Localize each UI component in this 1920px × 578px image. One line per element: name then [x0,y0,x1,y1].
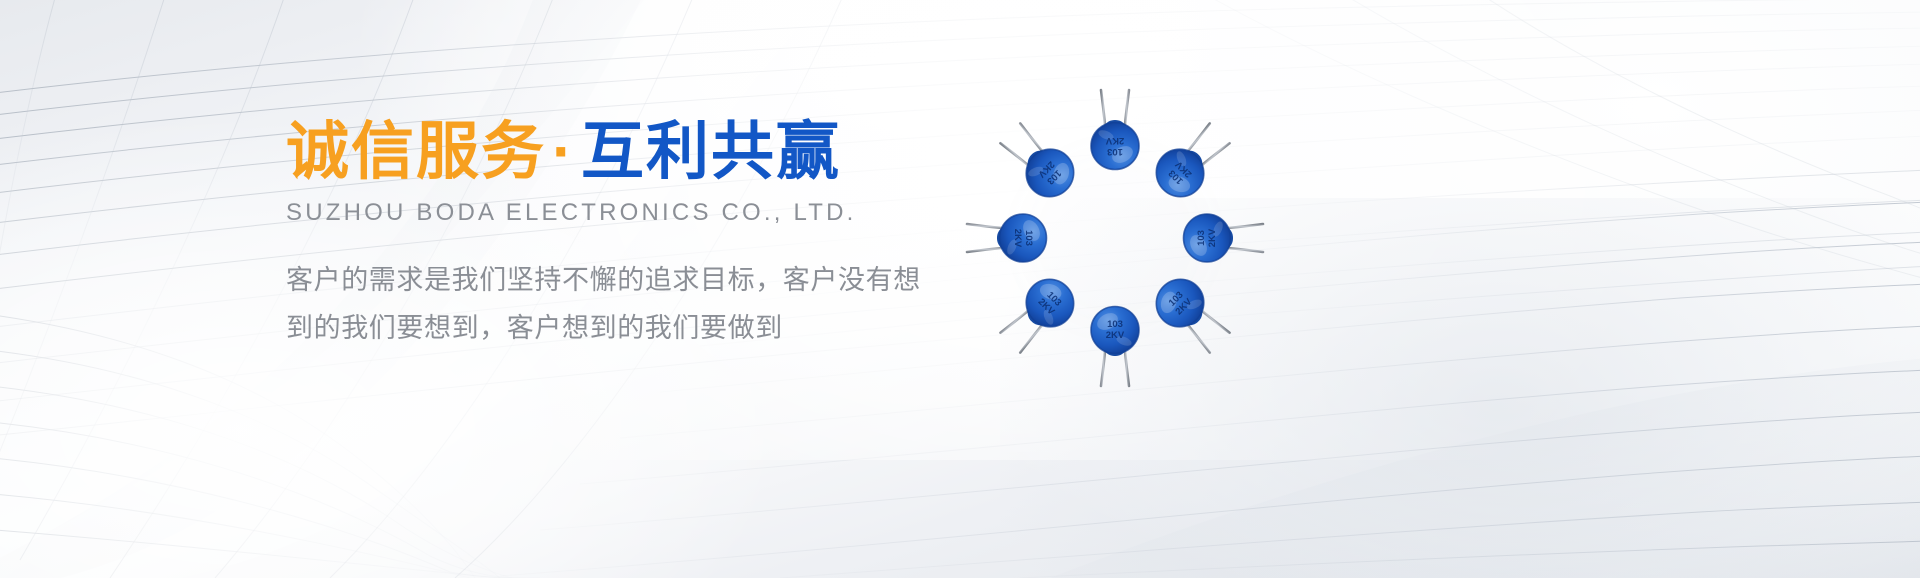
description-line-2: 到的我们要想到，客户想到的我们要做到 [286,304,926,352]
headline-separator-dot: · [546,117,581,187]
capacitor-marking: 1032KV [1196,228,1218,247]
product-image-capacitor-cluster: 1032KV1032KV1032KV1032KV1032KV1032KV1032… [950,52,1280,412]
banner-text-block: 诚信服务·互利共赢 SUZHOU BODA ELECTRONICS CO., L… [286,118,966,352]
capacitor-marking: 1032KV [1106,319,1125,341]
capacitor-5: 1032KV [1091,307,1139,387]
capacitor-1: 1032KV [1091,90,1139,170]
capacitor-3: 1032KV [1184,214,1264,262]
capacitor-marking: 1032KV [1012,229,1034,248]
headline-blue-text: 互利共赢 [581,117,841,187]
capacitor-marking: 1032KV [1105,135,1124,157]
capacitor-ring-svg: 1032KV1032KV1032KV1032KV1032KV1032KV1032… [950,52,1280,412]
headline-orange-text: 诚信服务 [286,117,546,187]
headline: 诚信服务·互利共赢 [286,118,966,186]
description-line-1: 客户的需求是我们坚持不懈的追求目标，客户没有想 [286,256,926,304]
hero-banner: 诚信服务·互利共赢 SUZHOU BODA ELECTRONICS CO., L… [0,0,1920,578]
capacitor-7: 1032KV [967,214,1047,262]
company-name-subtitle: SUZHOU BODA ELECTRONICS CO., LTD. [286,199,966,227]
banner-description: 客户的需求是我们坚持不懈的追求目标，客户没有想 到的我们要想到，客户想到的我们要… [286,256,926,352]
